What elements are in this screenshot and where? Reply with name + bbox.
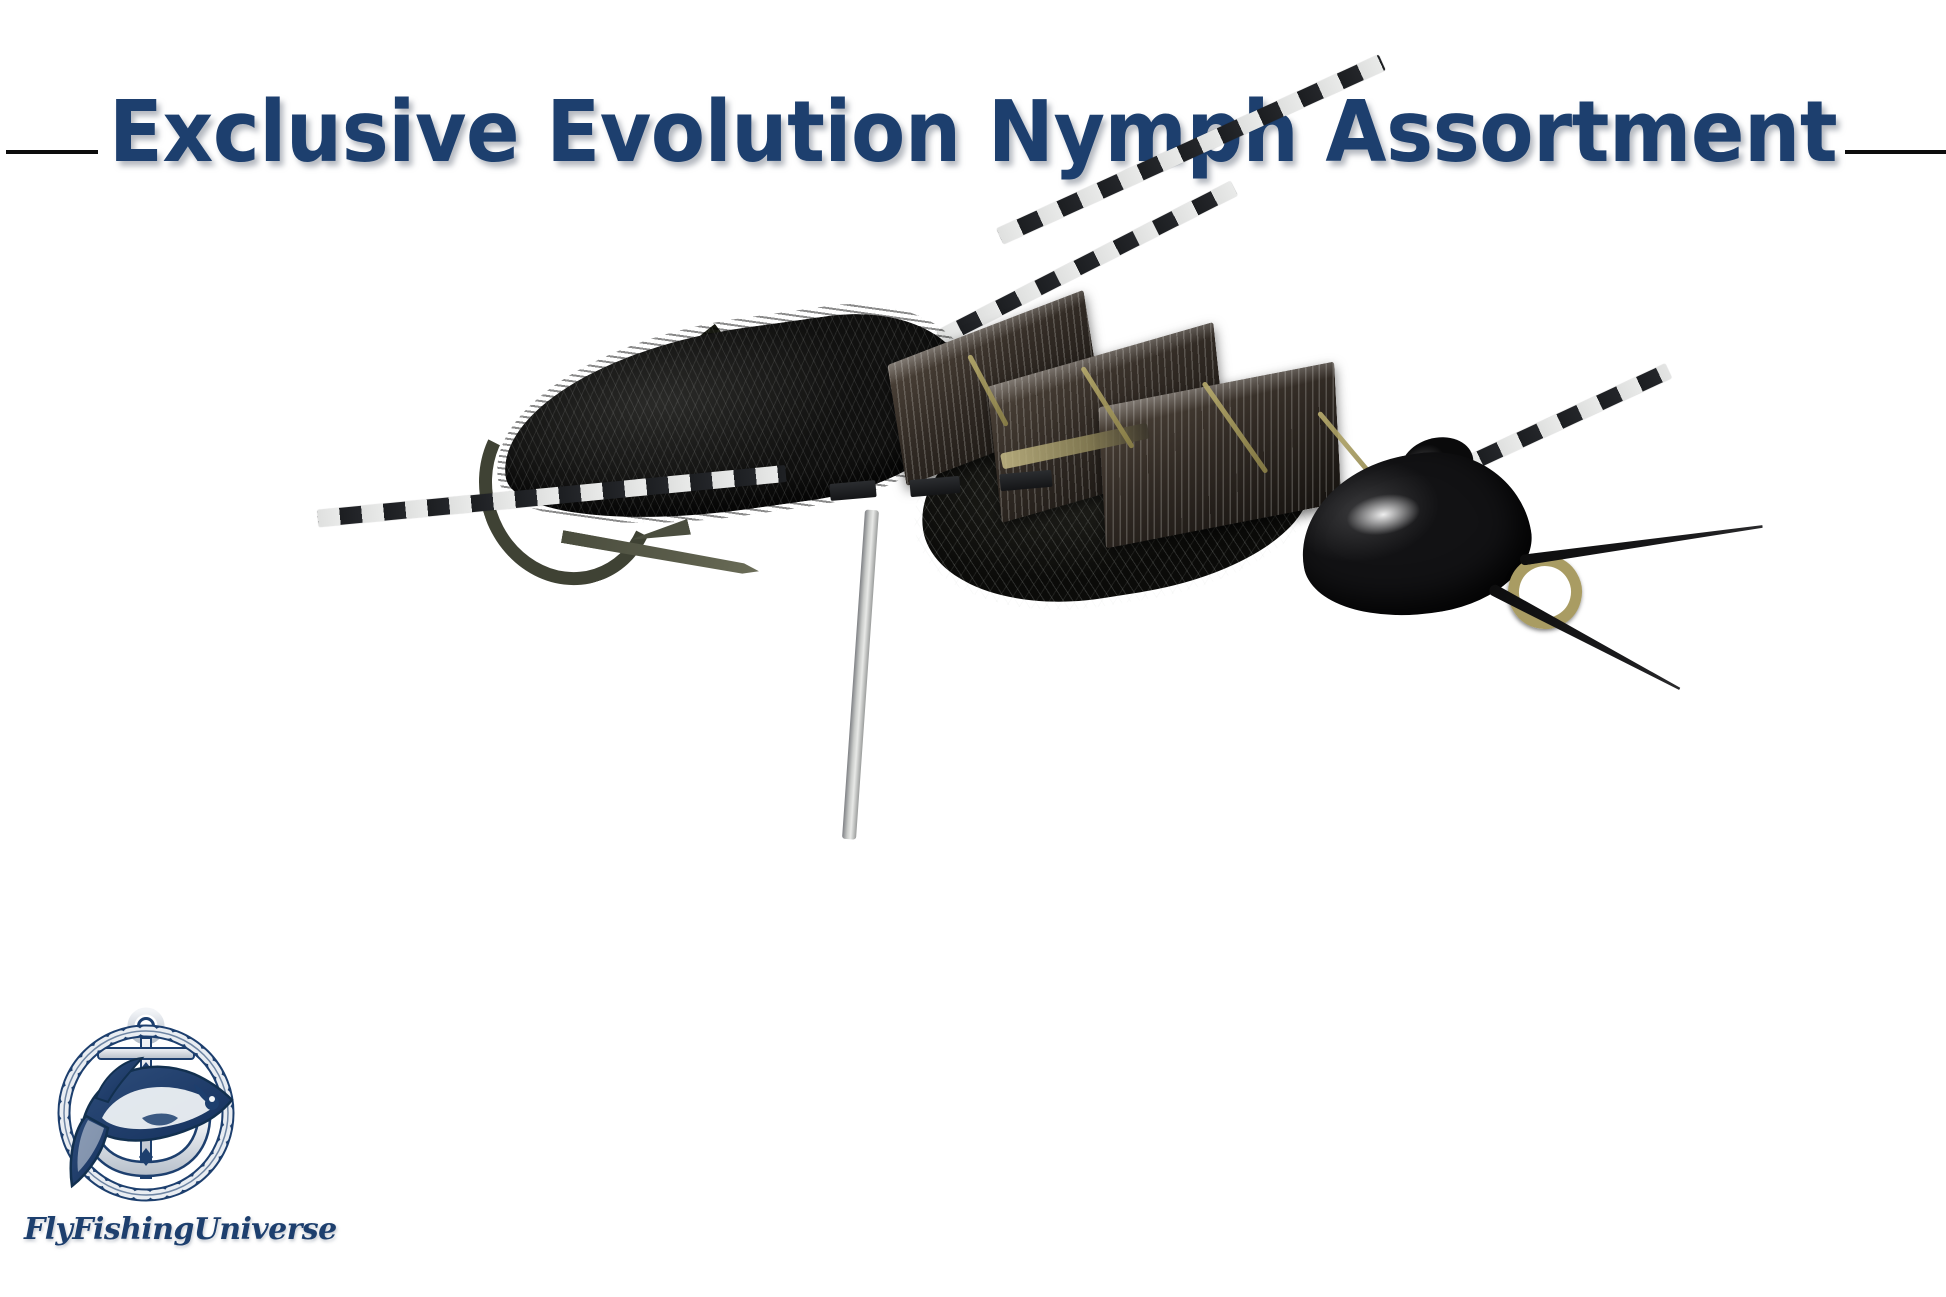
rubber-leg-lower-center (842, 510, 879, 840)
antenna-upper (1519, 521, 1763, 566)
rubber-leg-right (1457, 364, 1672, 476)
product-photo (0, 200, 1946, 1030)
page-title: Exclusive Evolution Nymph Assortment (68, 58, 1878, 208)
fish-anchor-rope-emblem-icon (46, 1000, 246, 1215)
rubber-leg-bar-segment-1 (829, 480, 876, 501)
page-root: Exclusive Evolution Nymph Assortment (0, 0, 1946, 1297)
header-rule-right (1845, 150, 1946, 154)
page-header: Exclusive Evolution Nymph Assortment (0, 58, 1946, 208)
brand-logo[interactable]: FlyFishingUniverse (24, 1000, 284, 1290)
stonefly-nymph-fly (300, 210, 1600, 1010)
brand-name: FlyFishingUniverse (24, 1212, 284, 1247)
antenna-lower (1487, 583, 1682, 695)
